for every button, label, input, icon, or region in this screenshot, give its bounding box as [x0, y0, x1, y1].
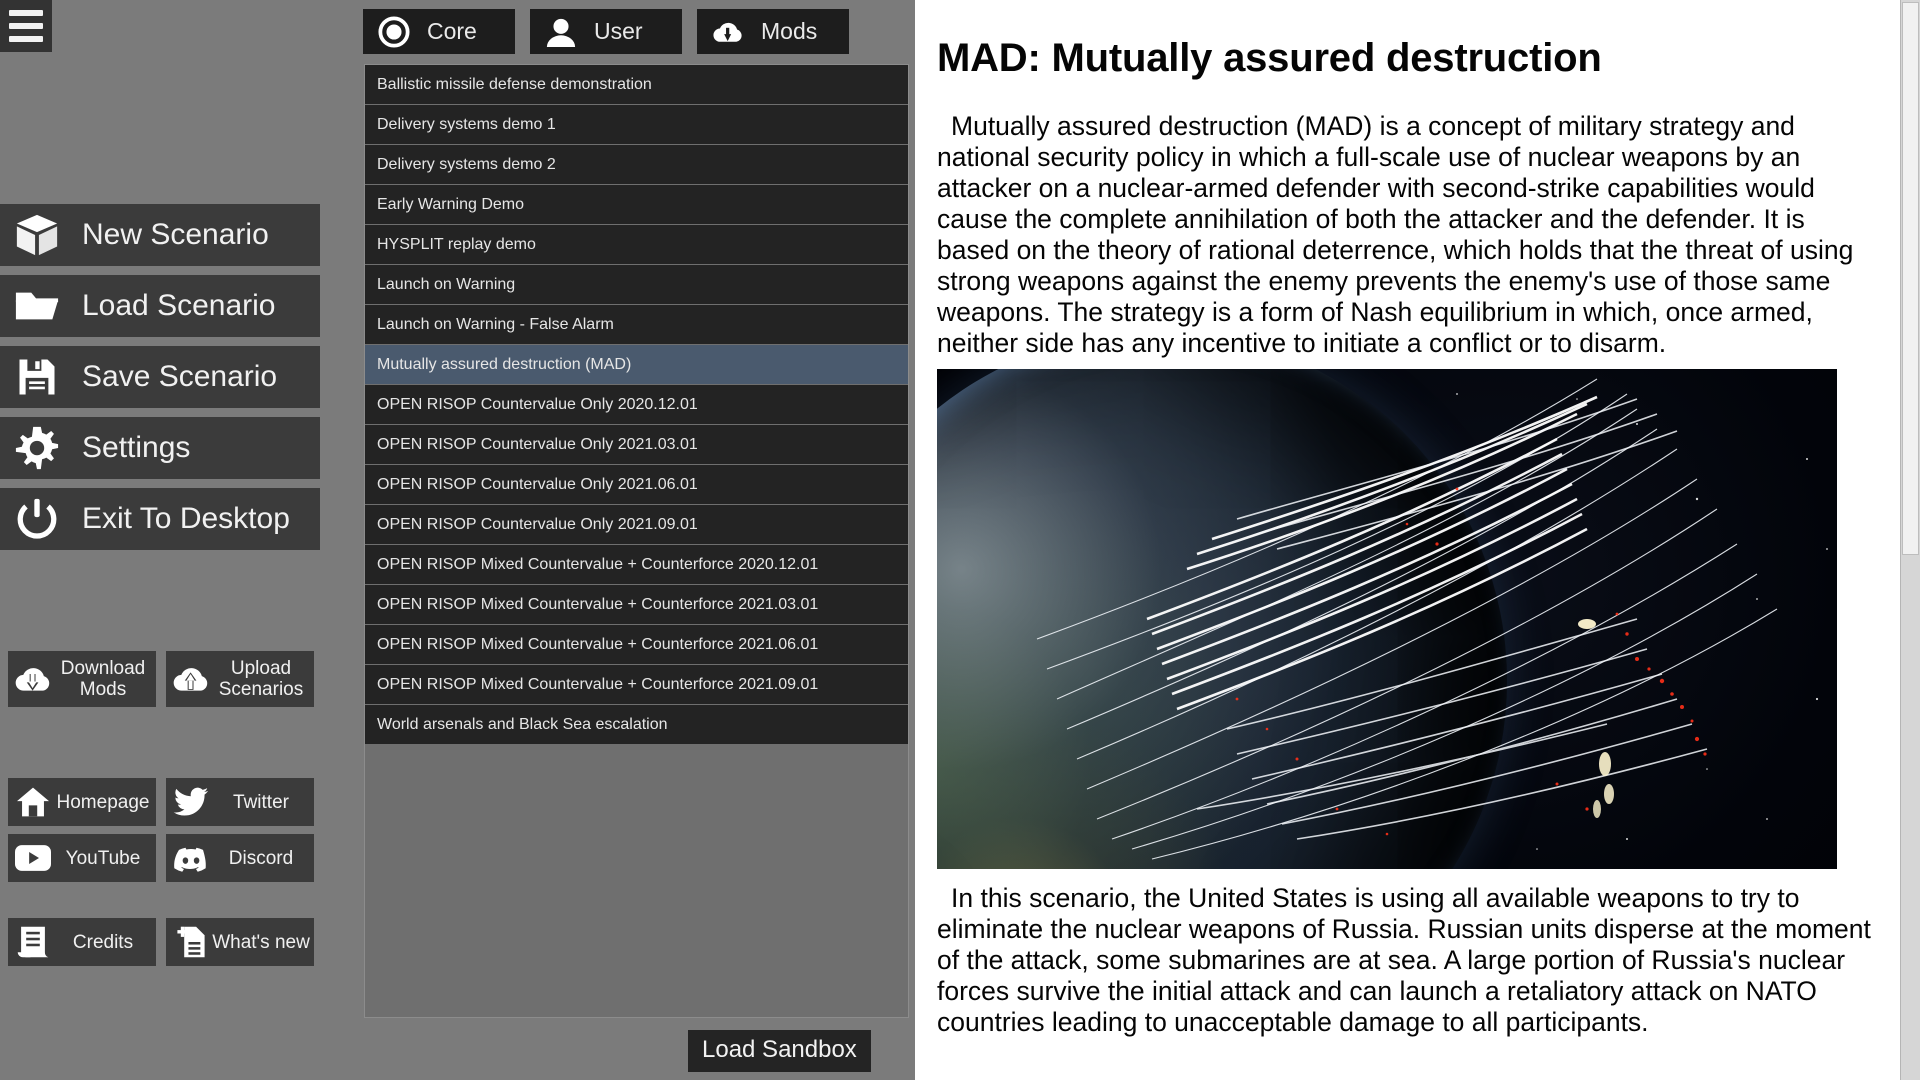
- upload-scenarios-button[interactable]: UploadScenarios: [166, 651, 314, 707]
- scenario-list-item[interactable]: OPEN RISOP Countervalue Only 2020.12.01: [365, 385, 908, 425]
- scenario-list-item-label: Delivery systems demo 1: [377, 116, 556, 134]
- exit-to-desktop-button[interactable]: Exit To Desktop: [0, 488, 320, 550]
- load-scenario-button[interactable]: Load Scenario: [0, 275, 320, 337]
- new-scenario-label: New Scenario: [82, 218, 269, 252]
- scenario-list-item-label: Mutually assured destruction (MAD): [377, 356, 631, 374]
- radio-selected-icon: [377, 15, 411, 49]
- missile-trajectories: [937, 369, 1837, 869]
- scenario-list-item[interactable]: Early Warning Demo: [365, 185, 908, 225]
- scenario-list-item-label: Delivery systems demo 2: [377, 156, 556, 174]
- load-scenario-label: Load Scenario: [82, 289, 275, 323]
- floppy-disk-icon: [10, 350, 64, 404]
- discord-icon: [170, 837, 212, 879]
- content-scrollbar[interactable]: [1900, 0, 1920, 1080]
- user-icon: [544, 15, 578, 49]
- tab-user[interactable]: User: [530, 9, 682, 54]
- download-mods-button[interactable]: DownloadMods: [8, 651, 156, 707]
- cloud-download-icon: [12, 658, 54, 700]
- scenario-list-item-label: Launch on Warning - False Alarm: [377, 316, 614, 334]
- info-links-group: Credits What's new: [8, 918, 338, 974]
- box-icon: [10, 208, 64, 262]
- page-title: MAD: Mutually assured destruction: [937, 36, 1876, 81]
- tab-mods[interactable]: Mods: [697, 9, 849, 54]
- power-icon: [10, 492, 64, 546]
- social-links-group: Homepage Twitter: [8, 778, 338, 890]
- scenario-list-item[interactable]: OPEN RISOP Mixed Countervalue + Counterf…: [365, 625, 908, 665]
- whats-new-button[interactable]: What's new: [166, 918, 314, 966]
- scenario-list-item[interactable]: Launch on Warning - False Alarm: [365, 305, 908, 345]
- app-window: New Scenario Load Scenario: [0, 0, 1920, 1080]
- credits-label: Credits: [54, 932, 156, 953]
- new-document-icon: [170, 921, 212, 963]
- scenario-description: MAD: Mutually assured destruction Mutual…: [915, 0, 1900, 1048]
- new-scenario-button[interactable]: New Scenario: [0, 204, 320, 266]
- scrollbar-thumb[interactable]: [1902, 2, 1919, 555]
- scenario-browser-panel: Core User M: [355, 0, 915, 1080]
- gear-icon: [10, 421, 64, 475]
- cloud-upload-icon: [170, 658, 212, 700]
- scenario-source-tabs: Core User M: [355, 0, 915, 54]
- scenario-list-item-label: Launch on Warning: [377, 276, 515, 294]
- twitter-button[interactable]: Twitter: [166, 778, 314, 826]
- scenario-list-item[interactable]: OPEN RISOP Mixed Countervalue + Counterf…: [365, 585, 908, 625]
- hamburger-icon-bar: [9, 36, 43, 42]
- scenario-list-item[interactable]: OPEN RISOP Mixed Countervalue + Counterf…: [365, 665, 908, 705]
- scenario-list-item[interactable]: HYSPLIT replay demo: [365, 225, 908, 265]
- left-sidebar: New Scenario Load Scenario: [0, 0, 355, 1080]
- description-paragraph-2: In this scenario, the United States is u…: [937, 883, 1876, 1038]
- scenario-list-item[interactable]: OPEN RISOP Countervalue Only 2021.06.01: [365, 465, 908, 505]
- credits-button[interactable]: Credits: [8, 918, 156, 966]
- scenario-list-item-label: World arsenals and Black Sea escalation: [377, 716, 668, 734]
- scenario-list-item[interactable]: OPEN RISOP Countervalue Only 2021.03.01: [365, 425, 908, 465]
- scenario-preview-image: [937, 369, 1837, 869]
- mods-button-group: DownloadMods UploadScenarios: [8, 651, 338, 715]
- main-menu: New Scenario Load Scenario: [0, 204, 320, 559]
- twitter-label: Twitter: [212, 792, 314, 813]
- hamburger-menu-button[interactable]: [0, 0, 52, 52]
- hamburger-icon-bar: [9, 10, 43, 16]
- scenario-list-item[interactable]: Launch on Warning: [365, 265, 908, 305]
- youtube-icon: [12, 837, 54, 879]
- scenario-list-item[interactable]: OPEN RISOP Mixed Countervalue + Counterf…: [365, 545, 908, 585]
- tab-user-label: User: [594, 18, 643, 45]
- discord-button[interactable]: Discord: [166, 834, 314, 882]
- discord-label: Discord: [212, 848, 314, 869]
- homepage-button[interactable]: Homepage: [8, 778, 156, 826]
- load-sandbox-button[interactable]: Load Sandbox: [688, 1030, 871, 1072]
- whats-new-label: What's new: [212, 932, 314, 953]
- scenario-list-item-label: OPEN RISOP Countervalue Only 2021.09.01: [377, 516, 698, 534]
- scenario-list[interactable]: Ballistic missile defense demonstrationD…: [364, 64, 909, 1018]
- tab-mods-label: Mods: [761, 18, 817, 45]
- scenario-list-item-label: OPEN RISOP Countervalue Only 2021.06.01: [377, 476, 698, 494]
- home-icon: [12, 781, 54, 823]
- scenario-list-item[interactable]: Mutually assured destruction (MAD): [365, 345, 908, 385]
- tab-core-label: Core: [427, 18, 477, 45]
- scenario-list-item[interactable]: Delivery systems demo 1: [365, 105, 908, 145]
- hamburger-icon-bar: [9, 23, 43, 29]
- description-paragraph-1: Mutually assured destruction (MAD) is a …: [937, 111, 1876, 359]
- download-mods-label: DownloadMods: [54, 658, 156, 700]
- save-scenario-label: Save Scenario: [82, 360, 277, 394]
- scenario-list-item-label: OPEN RISOP Countervalue Only 2020.12.01: [377, 396, 698, 414]
- folder-icon: [10, 279, 64, 333]
- scenario-details-panel: MAD: Mutually assured destruction Mutual…: [915, 0, 1920, 1080]
- settings-button[interactable]: Settings: [0, 417, 320, 479]
- scenario-list-item[interactable]: Ballistic missile defense demonstration: [365, 65, 908, 105]
- save-scenario-button[interactable]: Save Scenario: [0, 346, 320, 408]
- scenario-list-item-label: OPEN RISOP Mixed Countervalue + Counterf…: [377, 556, 818, 574]
- scenario-list-item-label: OPEN RISOP Mixed Countervalue + Counterf…: [377, 636, 818, 654]
- scenario-list-item-label: Early Warning Demo: [377, 196, 524, 214]
- youtube-label: YouTube: [54, 848, 156, 869]
- scenario-list-item-label: OPEN RISOP Mixed Countervalue + Counterf…: [377, 676, 818, 694]
- scenario-list-item[interactable]: OPEN RISOP Countervalue Only 2021.09.01: [365, 505, 908, 545]
- scenario-list-item-label: Ballistic missile defense demonstration: [377, 76, 652, 94]
- scenario-list-item[interactable]: World arsenals and Black Sea escalation: [365, 705, 908, 745]
- scenario-list-item-label: HYSPLIT replay demo: [377, 236, 536, 254]
- upload-scenarios-label: UploadScenarios: [212, 658, 314, 700]
- cloud-download-icon: [711, 15, 745, 49]
- scenario-list-item[interactable]: Delivery systems demo 2: [365, 145, 908, 185]
- exit-to-desktop-label: Exit To Desktop: [82, 502, 290, 536]
- scenario-list-item-label: OPEN RISOP Mixed Countervalue + Counterf…: [377, 596, 818, 614]
- twitter-icon: [170, 781, 212, 823]
- homepage-label: Homepage: [54, 792, 156, 813]
- settings-label: Settings: [82, 431, 190, 465]
- scroll-icon: [12, 921, 54, 963]
- youtube-button[interactable]: YouTube: [8, 834, 156, 882]
- scenario-list-item-label: OPEN RISOP Countervalue Only 2021.03.01: [377, 436, 698, 454]
- tab-core[interactable]: Core: [363, 9, 515, 54]
